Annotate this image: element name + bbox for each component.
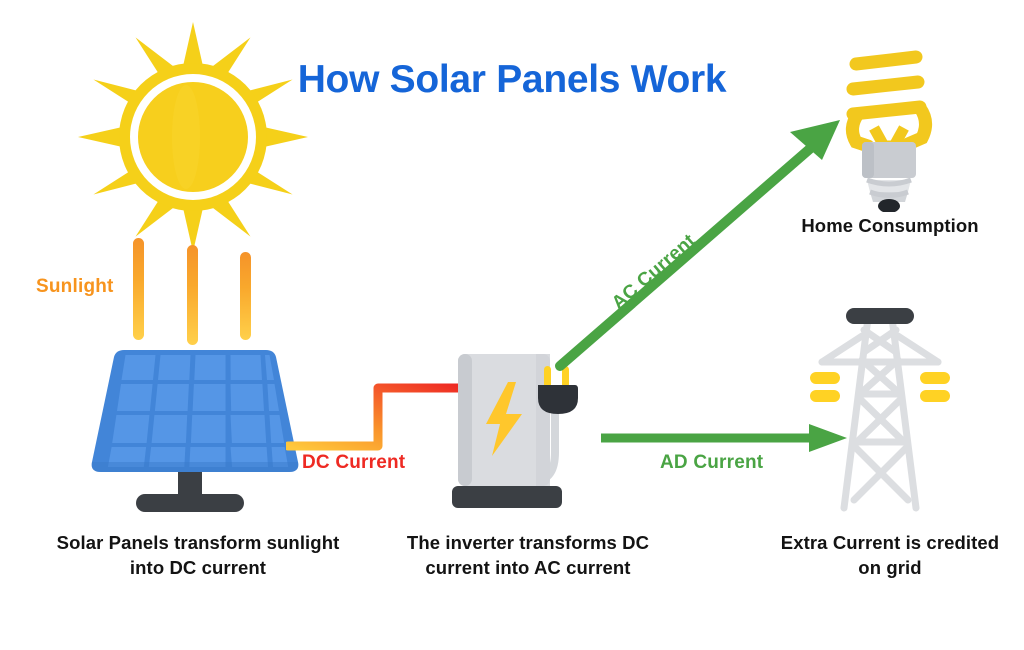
sunlight-label: Sunlight [36,276,114,298]
sunlight-ray [240,252,251,340]
ad-current-label: AD Current [660,452,763,474]
infographic-canvas: How Solar Panels Work [0,0,1024,650]
light-bulb-icon [834,42,944,212]
transmission-tower-icon [800,300,960,512]
sun-icon [78,22,308,252]
sunlight-ray [187,245,198,345]
solar-panel-icon [70,348,320,518]
caption-solar-panel: Solar Panels transform sunlight into DC … [48,531,348,581]
home-consumption-label: Home Consumption [760,215,1020,237]
dc-current-label: DC Current [302,452,405,474]
caption-inverter: The inverter transforms DC current into … [373,531,683,581]
sunlight-ray [133,238,144,340]
caption-grid: Extra Current is credited on grid [770,531,1010,581]
dc-wire-icon [286,378,466,458]
